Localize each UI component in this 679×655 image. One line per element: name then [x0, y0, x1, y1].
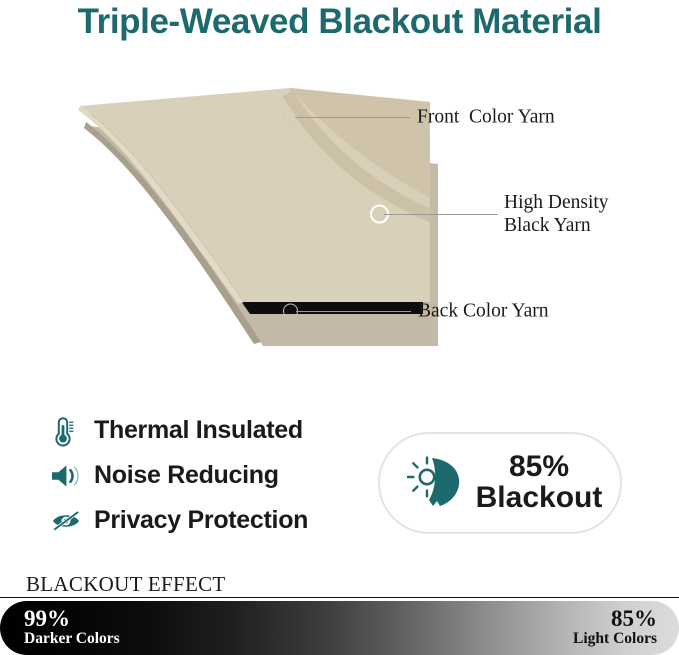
gradient-right-percent: 85%: [611, 607, 657, 630]
blackout-effect-title: BLACKOUT EFFECT: [26, 572, 226, 597]
feature-label-thermal: Thermal Insulated: [94, 416, 303, 445]
feature-list: Thermal Insulated Noise Reducing Privacy…: [50, 408, 350, 543]
feature-thermal-insulated: Thermal Insulated: [50, 408, 350, 453]
badge-word: Blackout: [476, 483, 603, 514]
speaker-sound-icon: [50, 462, 94, 490]
gradient-left-percent: 99%: [24, 607, 70, 630]
callout-leader-line: [296, 311, 411, 312]
thermometer-icon: [50, 415, 94, 447]
badge-percent: 85%: [509, 452, 569, 483]
badge-text-block: 85% Blackout: [476, 452, 603, 513]
callout-front-color-yarn: Front Color Yarn: [282, 106, 679, 128]
callout-back-color-yarn: Back Color Yarn: [283, 300, 679, 322]
sun-behind-curtain-icon: [398, 454, 476, 512]
blackout-effect-gradient-bar: 99% Darker Colors 85% Light Colors: [0, 601, 679, 655]
callout-label-front: Front Color Yarn: [417, 106, 555, 129]
callout-label-high-density: High Density Black Yarn: [504, 191, 609, 237]
gradient-bar-right-stat: 85% Light Colors: [573, 607, 657, 647]
blackout-effect-divider: [0, 597, 679, 598]
feature-label-privacy: Privacy Protection: [94, 506, 308, 535]
gradient-right-caption: Light Colors: [573, 631, 657, 647]
blackout-percentage-badge: 85% Blackout: [378, 432, 622, 534]
callout-label-back: Back Color Yarn: [418, 300, 549, 323]
page-title: Triple-Weaved Blackout Material: [0, 2, 679, 42]
feature-noise-reducing: Noise Reducing: [50, 453, 350, 498]
callout-high-density-black-yarn: High Density Black Yarn: [370, 192, 679, 236]
gradient-left-caption: Darker Colors: [24, 631, 120, 647]
gradient-bar-left-stat: 99% Darker Colors: [24, 607, 120, 647]
feature-label-noise: Noise Reducing: [94, 461, 279, 490]
feature-privacy-protection: Privacy Protection: [50, 498, 350, 543]
callout-leader-line: [384, 214, 498, 215]
eye-slash-icon: [50, 507, 94, 535]
callout-leader-line: [295, 117, 410, 118]
